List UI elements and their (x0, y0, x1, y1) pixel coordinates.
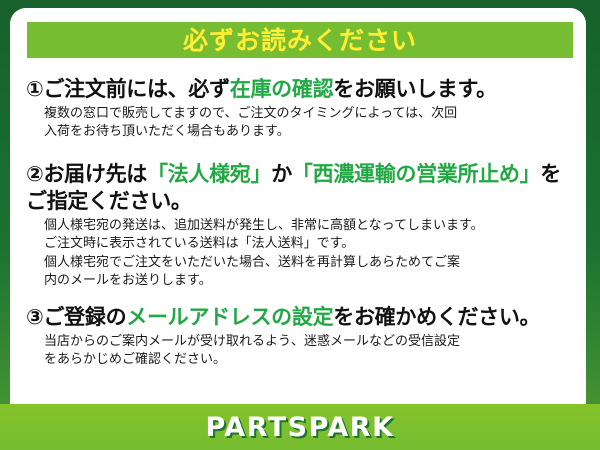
subtext-line: 入荷をお待ち頂いただく場合もあります。 (44, 123, 497, 141)
notice-item-2: ②お届け先は「法人様宛」か「西濃運輸の営業所止め」をご指定ください。 個人様宅宛… (26, 161, 576, 291)
heading-segment: をお確かめください。 (333, 305, 540, 329)
subtext-line: 内のメールをお送りします。 (44, 272, 576, 290)
subtext-line: 個人様宅宛でご注文をいただいた場合、送料を再計算しあらためてご案 (44, 254, 576, 272)
heading-segment: をお願いします。 (333, 77, 497, 101)
subtext-line: ご注文時に表示されている送料は「法人送料」です。 (44, 235, 576, 253)
notice-item-2-heading: ②お届け先は「法人様宛」か「西濃運輸の営業所止め」をご指定ください。 (26, 161, 576, 215)
banner-header: 必ずお読みください (27, 22, 573, 58)
notice-banner-image: 必ずお読みください ①ご注文前には、必ず在庫の確認をお願いします。 複数の窓口で… (0, 0, 600, 450)
footer-brand-bar: PARTSPARK (0, 404, 600, 450)
notice-item-3-subtext: 当店からのご案内メールが受け取れるよう、迷惑メールなどの受信設定 をあらかじめご… (44, 333, 540, 370)
brand-logo-text: PARTSPARK (205, 414, 394, 441)
heading-segment: ①ご注文前には、必ず (26, 77, 230, 101)
heading-segment: ②お届け先は (26, 162, 147, 186)
heading-highlight: 「西濃運輸の営業所止め」 (292, 162, 540, 186)
notice-item-3: ③ご登録のメールアドレスの設定をお確かめください。 当店からのご案内メールが受け… (26, 304, 540, 370)
heading-segment: ③ご登録の (26, 305, 126, 329)
heading-segment: か (271, 162, 292, 186)
notice-item-1-heading: ①ご注文前には、必ず在庫の確認をお願いします。 (26, 76, 497, 103)
banner-title: 必ずお読みください (183, 28, 417, 53)
notice-item-list: ①ご注文前には、必ず在庫の確認をお願いします。 複数の窓口で販売してますので、ご… (20, 66, 576, 404)
subtext-line: 複数の窓口で販売してますので、ご注文のタイミングによっては、次回 (44, 105, 497, 123)
notice-item-1: ①ご注文前には、必ず在庫の確認をお願いします。 複数の窓口で販売してますので、ご… (26, 76, 497, 142)
notice-item-3-heading: ③ご登録のメールアドレスの設定をお確かめください。 (26, 304, 540, 331)
subtext-line: 個人様宅宛の発送は、追加送料が発生し、非常に高額となってしまいます。 (44, 217, 576, 235)
subtext-line: 当店からのご案内メールが受け取れるよう、迷惑メールなどの受信設定 (44, 333, 540, 351)
notice-item-2-subtext: 個人様宅宛の発送は、追加送料が発生し、非常に高額となってしまいます。 ご注文時に… (44, 217, 576, 291)
heading-highlight: メールアドレスの設定 (126, 305, 333, 329)
notice-item-1-subtext: 複数の窓口で販売してますので、ご注文のタイミングによっては、次回 入荷をお待ち頂… (44, 105, 497, 142)
white-card: 必ずお読みください ①ご注文前には、必ず在庫の確認をお願いします。 複数の窓口で… (10, 8, 586, 404)
heading-highlight: 「法人様宛」 (147, 162, 271, 186)
subtext-line: をあらかじめご確認ください。 (44, 351, 540, 369)
heading-highlight: 在庫の確認 (230, 77, 334, 101)
